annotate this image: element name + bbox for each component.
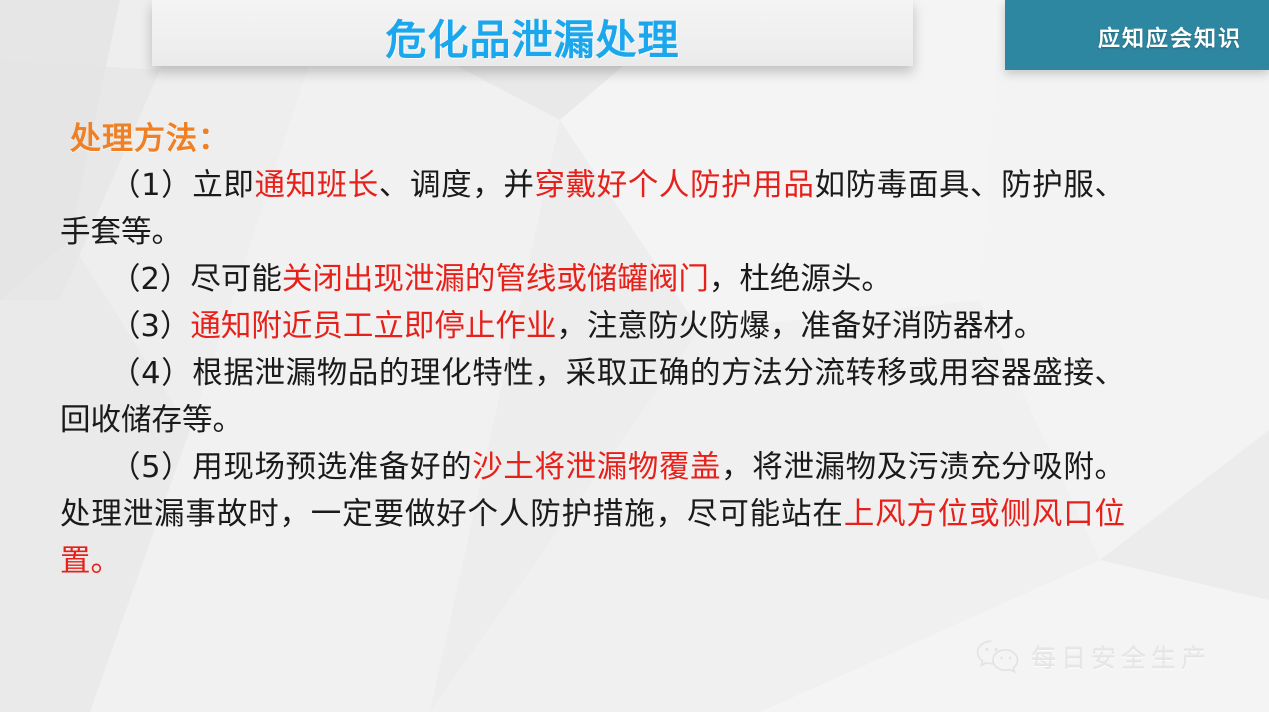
highlighted-text: 关闭出现泄漏的管线或储罐阀门 [282, 262, 709, 297]
body-text: （3） [110, 309, 190, 344]
body-text: ，杜绝源头。 [709, 262, 892, 297]
wechat-icon [975, 638, 1021, 676]
corner-badge-label: 应知应会知识 [1098, 21, 1242, 53]
body-text: ，注意防火防爆，准备好消防器材。 [556, 309, 1044, 344]
section-heading: 处理方法： [70, 113, 1125, 158]
watermark-label: 每日安全生产 [1031, 639, 1211, 675]
list-item: （4）根据泄漏物品的理化特性，采取正确的方法分流转移或用容器盛接、回收储存等。 [60, 350, 1125, 444]
watermark: 每日安全生产 [975, 638, 1211, 676]
slide-canvas: 危化品泄漏处理 应知应会知识 处理方法： （1）立即通知班长、调度，并穿戴好个人… [0, 0, 1269, 712]
highlighted-text: 通知附近员工立即停止作业 [190, 309, 556, 344]
body-text: （1）立即 [110, 168, 254, 203]
body-text: （2）尽可能 [110, 262, 282, 297]
highlighted-text: 穿戴好个人防护用品 [534, 168, 814, 203]
content-area: 处理方法： （1）立即通知班长、调度，并穿戴好个人防护用品如防毒面具、防护服、手… [60, 113, 1125, 585]
page-title: 危化品泄漏处理 [152, 6, 913, 66]
body-text: （4）根据泄漏物品的理化特性，采取正确的方法分流转移或用容器盛接、回收储存等。 [60, 356, 1125, 438]
list-item: （2）尽可能关闭出现泄漏的管线或储罐阀门，杜绝源头。 [60, 256, 1125, 303]
list-item: （3）通知附近员工立即停止作业，注意防火防爆，准备好消防器材。 [60, 303, 1125, 350]
title-panel: 危化品泄漏处理 [152, 0, 913, 66]
list-item: （5）用现场预选准备好的沙土将泄漏物覆盖，将泄漏物及污渍充分吸附。处理泄漏事故时… [60, 444, 1125, 585]
highlighted-text: 通知班长 [254, 168, 378, 203]
corner-badge: 应知应会知识 [1005, 0, 1269, 70]
highlighted-text: 沙土将泄漏物覆盖 [472, 450, 721, 485]
body-text: （5）用现场预选准备好的 [110, 450, 472, 485]
body-text: 、调度，并 [379, 168, 535, 203]
list-item: （1）立即通知班长、调度，并穿戴好个人防护用品如防毒面具、防护服、手套等。 [60, 162, 1125, 256]
